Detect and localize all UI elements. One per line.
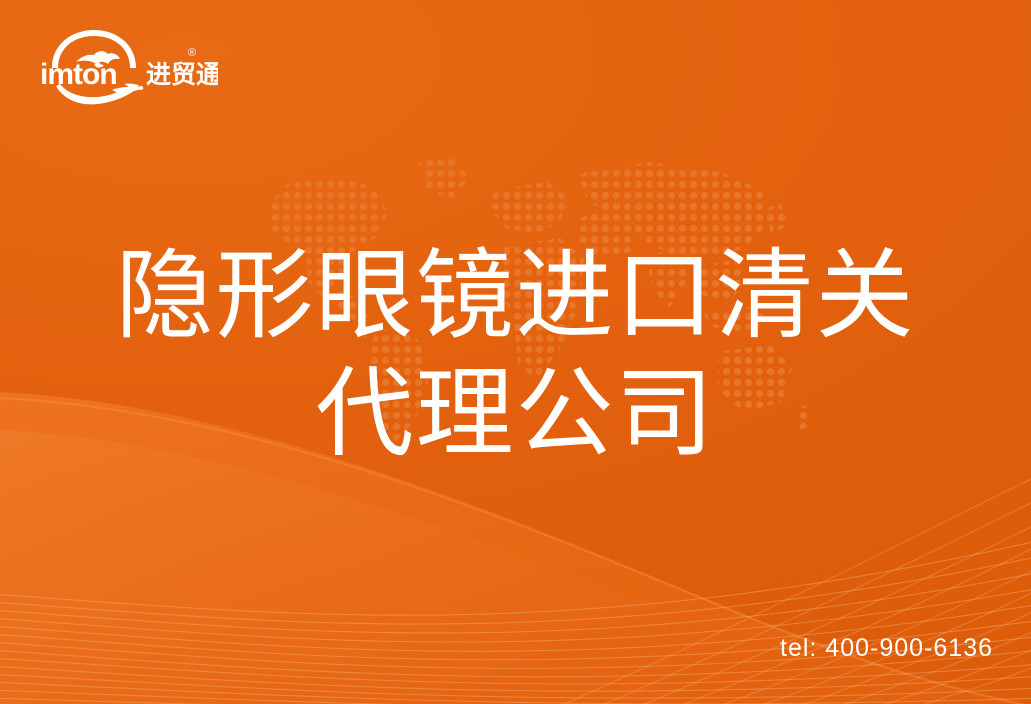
contact-telephone: tel: 400-900-6136: [780, 634, 993, 663]
imton-logo[interactable]: imton 进贸通 ®: [38, 28, 218, 106]
logo-chinese-name: 进贸通: [146, 61, 218, 89]
page-title: 隐形眼镜进口清关 代理公司: [0, 236, 1031, 472]
registered-trademark-icon: ®: [188, 47, 196, 59]
logo-wordmark: imton: [40, 58, 117, 91]
thin-line-fan: [0, 444, 1031, 704]
page-title-line-1: 隐形眼镜进口清关: [0, 236, 1031, 354]
page-title-line-2: 代理公司: [0, 354, 1031, 472]
promo-banner: imton 进贸通 ® 隐形眼镜进口清关 代理公司 tel: 400-900-6…: [0, 0, 1031, 704]
